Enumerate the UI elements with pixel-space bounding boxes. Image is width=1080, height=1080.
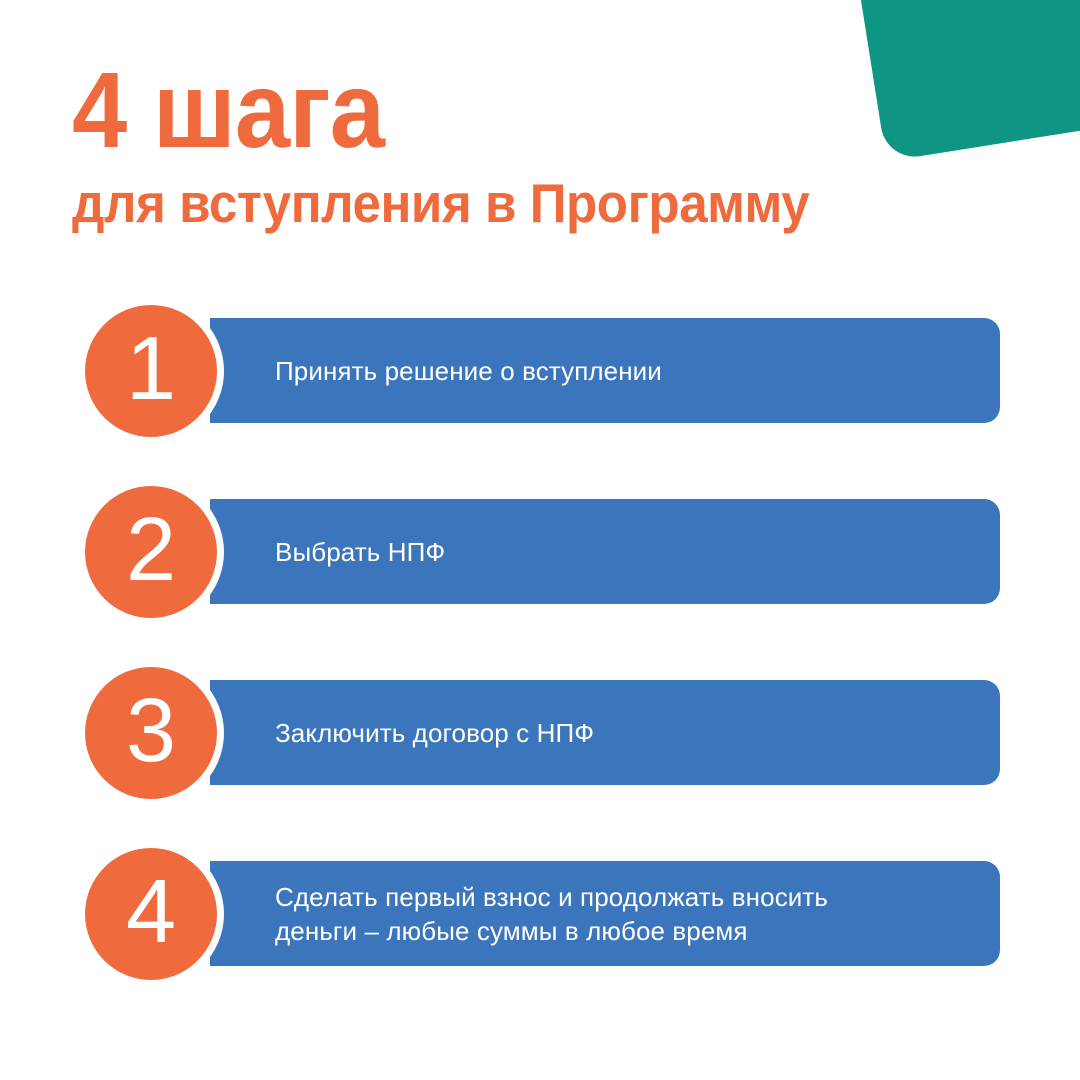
step-text-line: деньги – любые суммы в любое время	[275, 914, 828, 948]
step-text-2: Выбрать НПФ	[210, 535, 485, 569]
step-item-4: Сделать первый взнос и продолжать вносит…	[0, 861, 1080, 966]
step-number-3: 3	[126, 686, 176, 776]
page-title: 4 шага	[72, 58, 918, 162]
steps-list: Принять решение о вступлении 1 Выбрать Н…	[0, 318, 1080, 966]
page-subtitle: для вступления в Программу	[72, 172, 928, 234]
step-bar-2: Выбрать НПФ	[210, 499, 1000, 604]
step-number-1: 1	[126, 324, 176, 414]
step-bar-1: Принять решение о вступлении	[210, 318, 1000, 423]
step-number-4: 4	[126, 867, 176, 957]
infographic-poster: 4 шага для вступления в Программу Принят…	[0, 0, 1080, 1080]
step-text-4: Сделать первый взнос и продолжать вносит…	[210, 880, 868, 948]
step-text-line: Выбрать НПФ	[275, 535, 445, 569]
step-item-2: Выбрать НПФ 2	[0, 499, 1080, 604]
step-badge-4: 4	[85, 848, 217, 980]
step-text-1: Принять решение о вступлении	[210, 354, 702, 388]
step-item-3: Заключить договор с НПФ 3	[0, 680, 1080, 785]
step-number-2: 2	[126, 505, 176, 595]
step-item-1: Принять решение о вступлении 1	[0, 318, 1080, 423]
step-badge-3: 3	[85, 667, 217, 799]
heading-block: 4 шага для вступления в Программу	[72, 58, 992, 234]
step-text-line: Принять решение о вступлении	[275, 354, 662, 388]
step-bar-4: Сделать первый взнос и продолжать вносит…	[210, 861, 1000, 966]
step-badge-2: 2	[85, 486, 217, 618]
step-bar-3: Заключить договор с НПФ	[210, 680, 1000, 785]
step-text-3: Заключить договор с НПФ	[210, 716, 634, 750]
step-badge-1: 1	[85, 305, 217, 437]
step-text-line: Сделать первый взнос и продолжать вносит…	[275, 880, 828, 914]
step-text-line: Заключить договор с НПФ	[275, 716, 594, 750]
